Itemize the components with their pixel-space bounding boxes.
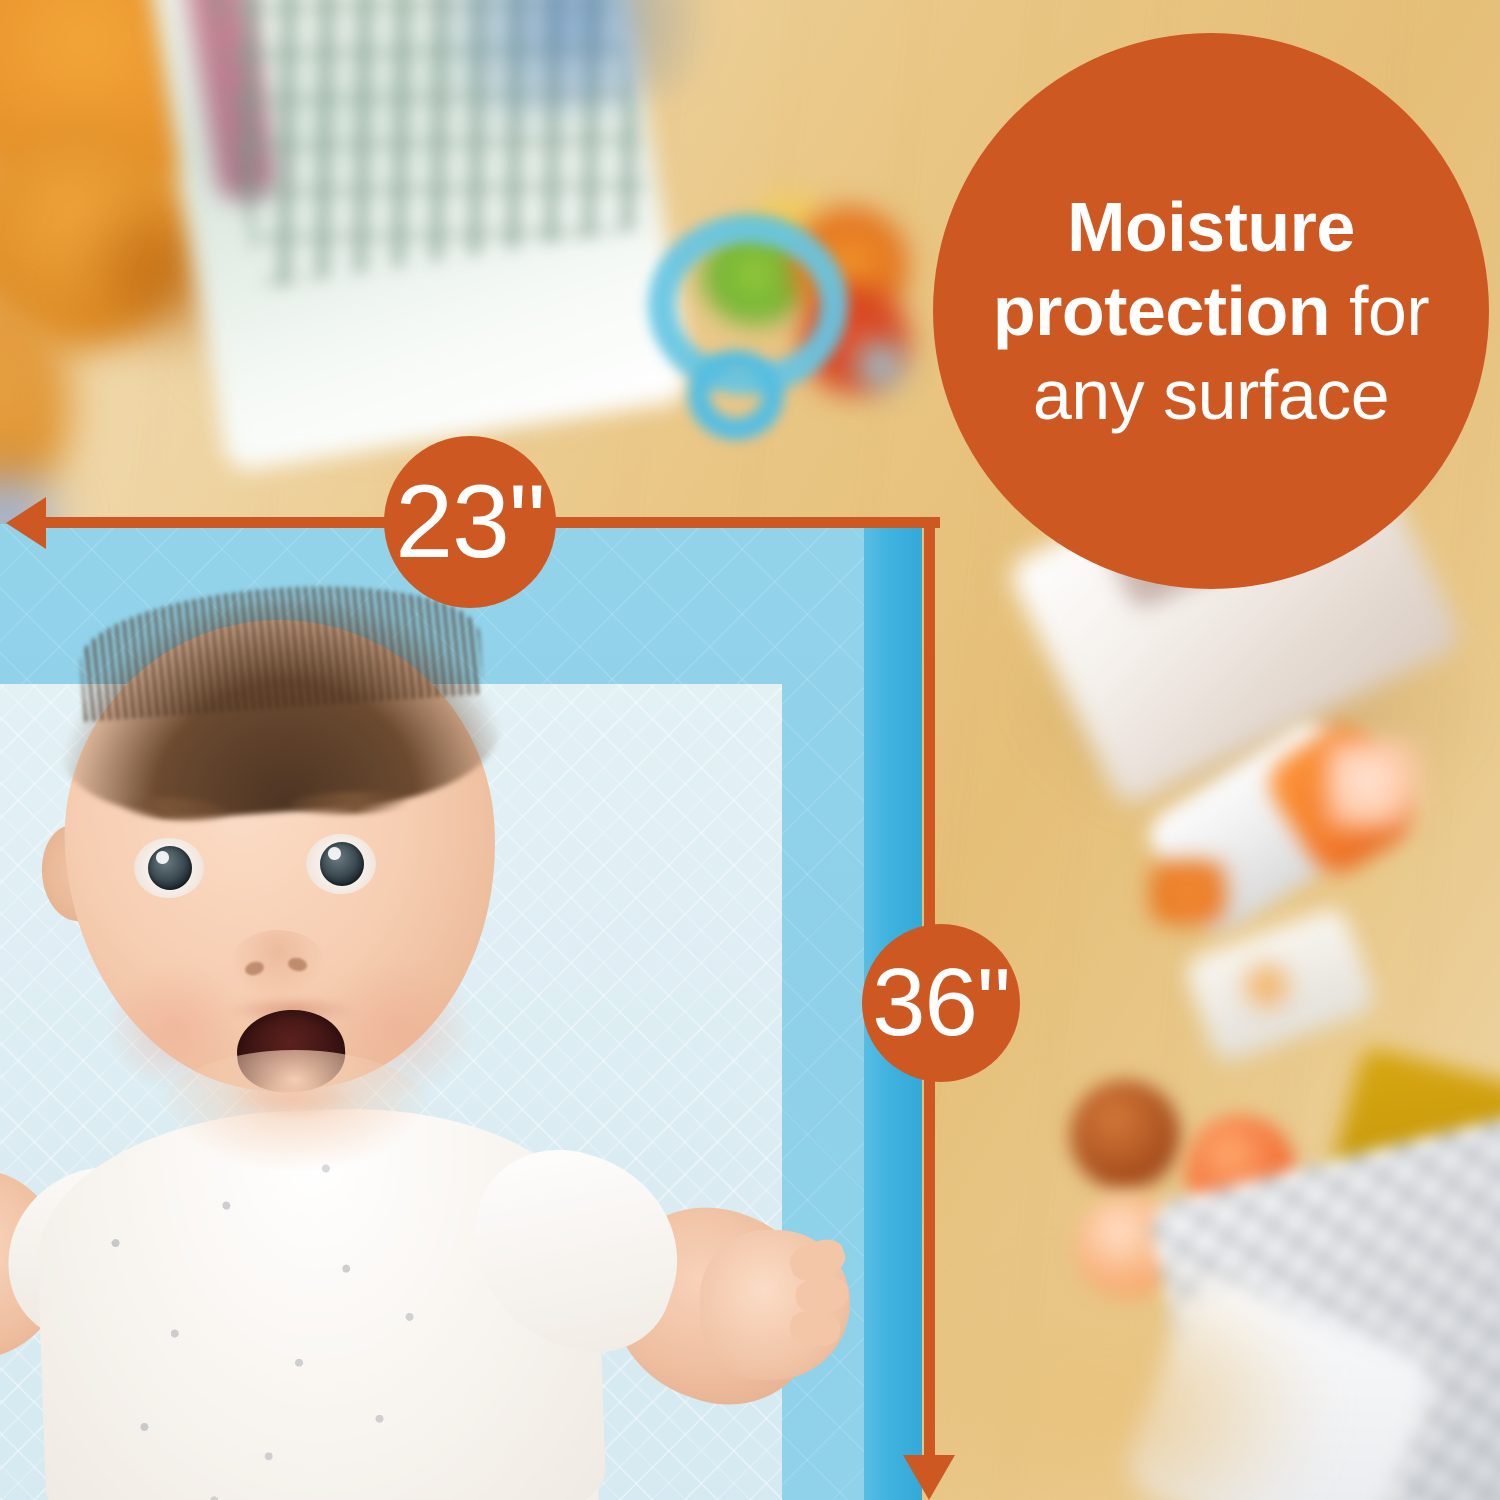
product-image-canvas: 23" 36" Moisture protection for any surf… (0, 0, 1500, 1500)
width-arrow-left-icon (6, 497, 46, 549)
promo-line3: any surface (1033, 356, 1389, 434)
promo-line2-bold: protection (993, 272, 1330, 350)
moisture-protection-badge: Moisture protection for any surface (933, 33, 1489, 589)
baby-photo-subject (0, 610, 870, 1500)
moisture-protection-badge-text: Moisture protection for any surface (959, 185, 1463, 437)
height-arrow-down-icon (903, 1455, 955, 1500)
floor-light-glow (900, 1260, 1320, 1500)
promo-line2-regular: for (1349, 272, 1429, 350)
promo-line1: Moisture (1067, 188, 1355, 266)
baby-nose (230, 930, 326, 1000)
width-dimension-badge: 23" (384, 436, 556, 608)
height-dimension-badge: 36" (862, 924, 1020, 1082)
